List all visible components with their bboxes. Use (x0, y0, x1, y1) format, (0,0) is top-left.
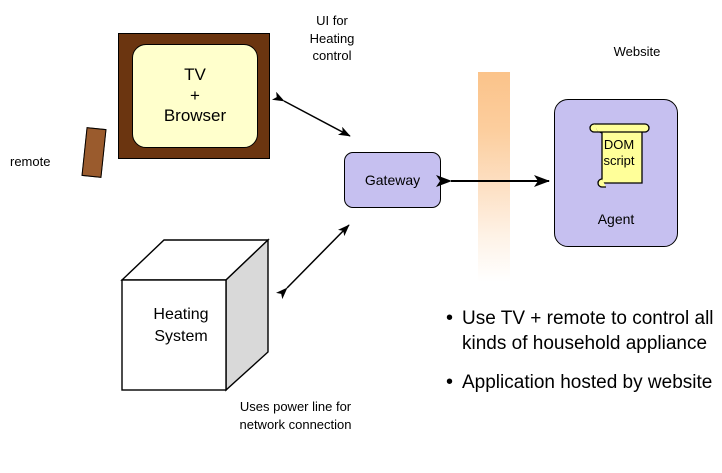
bullet-marker-icon: • (446, 306, 462, 331)
dom-script-label: DOM script (594, 137, 644, 168)
remote-control-icon (81, 127, 106, 178)
list-item: • Application hosted by website (446, 370, 722, 395)
dom-script-line1: DOM (594, 137, 644, 153)
tv-browser-node[interactable]: TV + Browser (132, 44, 258, 148)
ui-caption-line2: Heating (272, 30, 392, 48)
powerline-note-line1: Uses power line for (188, 398, 403, 416)
gateway-label: Gateway (365, 172, 420, 188)
ui-caption-line1: UI for (272, 12, 392, 30)
website-label: Website (562, 44, 712, 59)
arrow-heating-gateway (287, 225, 349, 288)
heating-label-line2: System (125, 326, 237, 348)
heating-system-label: Heating System (125, 304, 237, 347)
heating-label-line1: Heating (125, 304, 237, 326)
bullet-marker-icon: • (446, 370, 462, 395)
ui-caption-line3: control (272, 47, 392, 65)
list-item: • Use TV + remote to control all kinds o… (446, 306, 722, 356)
agent-label: Agent (554, 211, 678, 227)
bullet-list: • Use TV + remote to control all kinds o… (446, 306, 722, 409)
gateway-node[interactable]: Gateway (344, 152, 441, 208)
bullet-text: Use TV + remote to control all kinds of … (462, 306, 722, 356)
diagram-canvas: TV + Browser remote UI for Heating contr… (0, 0, 722, 473)
tv-label-line2: + (190, 86, 200, 107)
remote-label: remote (10, 154, 50, 169)
powerline-note-line2: network connection (188, 416, 403, 434)
arrow-tv-gateway (284, 101, 350, 136)
tv-label-line1: TV (184, 65, 206, 86)
bullet-text: Application hosted by website (462, 370, 712, 395)
powerline-note: Uses power line for network connection (188, 398, 403, 434)
ui-for-heating-control-caption: UI for Heating control (272, 12, 392, 65)
tv-label-line3: Browser (164, 106, 226, 127)
dom-script-line2: script (594, 153, 644, 169)
internet-gradient-band (478, 72, 510, 282)
